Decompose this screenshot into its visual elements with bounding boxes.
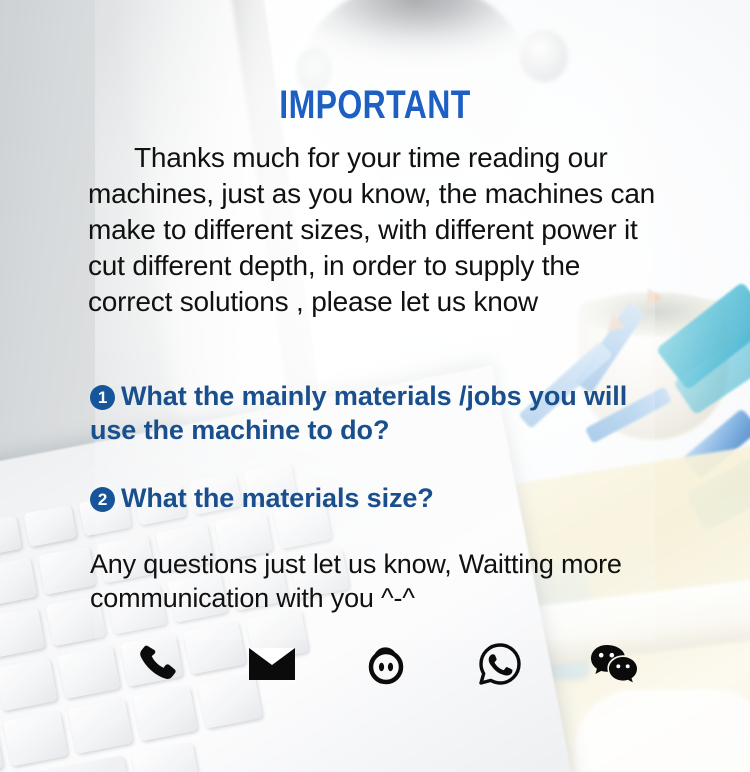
whatsapp-icon[interactable]: [468, 636, 532, 692]
phone-icon[interactable]: [126, 636, 190, 692]
question-2-text: What the materials size?: [121, 483, 434, 513]
intro-text: Thanks much for your time reading our ma…: [88, 142, 655, 317]
skype-icon[interactable]: [354, 636, 418, 692]
question-1-number: 1: [90, 385, 115, 410]
page-title: IMPORTANT: [75, 83, 675, 128]
question-1-text: What the mainly materials /jobs you will…: [90, 381, 627, 445]
closing-paragraph: Any questions just let us know, Waitting…: [90, 547, 680, 615]
question-item-2: 2What the materials size?: [90, 481, 670, 515]
email-icon[interactable]: [240, 636, 304, 692]
question-item-1: 1What the mainly materials /jobs you wil…: [90, 379, 670, 447]
intro-paragraph: Thanks much for your time reading our ma…: [88, 140, 668, 320]
question-2-number: 2: [90, 487, 115, 512]
important-banner: IMPORTANT Thanks much for your time read…: [0, 0, 750, 772]
contact-icon-row: [126, 636, 646, 692]
wechat-icon[interactable]: [582, 636, 646, 692]
